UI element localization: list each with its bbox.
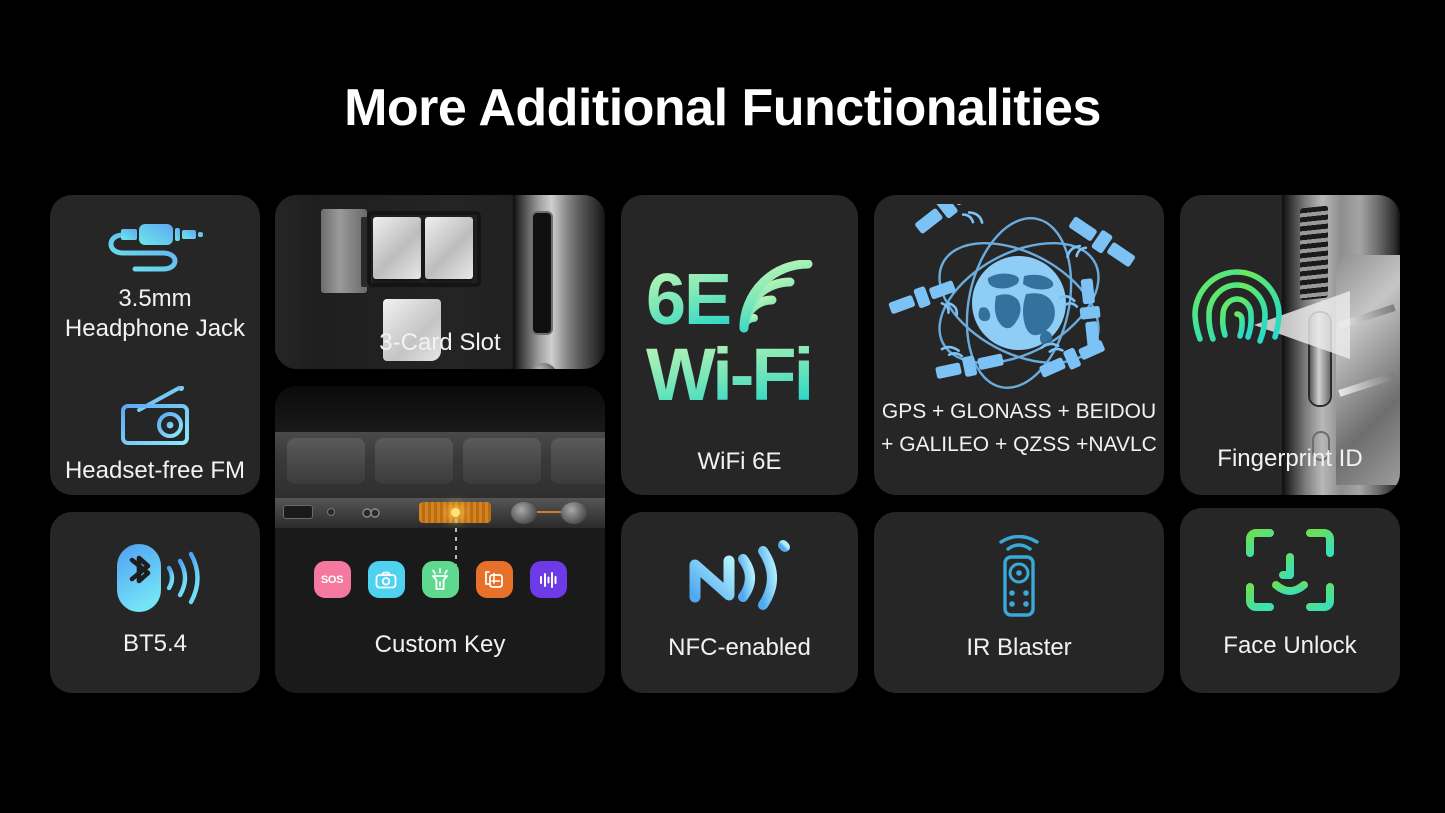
radio-icon xyxy=(50,385,260,447)
face-unlock-label: Face Unlock xyxy=(1180,632,1400,661)
camera-app-icon[interactable] xyxy=(368,561,405,598)
fingerprint-label: Fingerprint ID xyxy=(1180,445,1400,474)
custom-key-app-icons: SOS xyxy=(275,561,605,598)
gnss-label-line2: + GALILEO + QZSS +NAVLC xyxy=(874,432,1164,457)
ir-blaster-label: IR Blaster xyxy=(874,634,1164,663)
bluetooth-icon xyxy=(50,540,260,616)
wifi-6e-logo: 6E Wi-Fi xyxy=(621,255,858,415)
svg-text:Wi-Fi: Wi-Fi xyxy=(646,333,811,410)
nfc-icon xyxy=(621,538,858,618)
remote-control-icon xyxy=(874,534,1164,620)
card-nfc[interactable]: NFC-enabled xyxy=(621,512,858,693)
nfc-label: NFC-enabled xyxy=(621,634,858,663)
sos-app-icon[interactable]: SOS xyxy=(314,561,351,598)
card-fingerprint[interactable]: Fingerprint ID xyxy=(1180,195,1400,495)
headphone-jack-label-line2: Headphone Jack xyxy=(50,315,260,344)
face-id-icon xyxy=(1180,524,1400,616)
satellite-globe-icon xyxy=(874,203,1164,403)
svg-text:6E: 6E xyxy=(646,260,730,340)
fingerprint-icon xyxy=(1192,269,1282,366)
card-wifi-6e[interactable]: 6E Wi-Fi WiFi 6E xyxy=(621,195,858,495)
card-ir-blaster[interactable]: IR Blaster xyxy=(874,512,1164,693)
headphone-jack-icon xyxy=(50,217,260,279)
card-gnss[interactable]: GPS + GLONASS + BEIDOU + GALILEO + QZSS … xyxy=(874,195,1164,495)
bluetooth-label: BT5.4 xyxy=(50,630,260,659)
recorder-app-icon[interactable] xyxy=(530,561,567,598)
infographic-page: More Additional Functionalities 3.5mm He… xyxy=(0,0,1445,813)
gnss-label-line1: GPS + GLONASS + BEIDOU xyxy=(874,399,1164,424)
wifi-6e-label: WiFi 6E xyxy=(621,448,858,477)
custom-key-label: Custom Key xyxy=(275,631,605,660)
card-slot-label: 3-Card Slot xyxy=(275,329,605,358)
card-headphone-fm[interactable]: 3.5mm Headphone Jack xyxy=(50,195,260,495)
headphone-jack-label-line1: 3.5mm xyxy=(50,285,260,314)
screenshot-app-icon[interactable] xyxy=(476,561,513,598)
flashlight-app-icon[interactable] xyxy=(422,561,459,598)
card-bluetooth[interactable]: BT5.4 xyxy=(50,512,260,693)
page-title: More Additional Functionalities xyxy=(0,78,1445,138)
card-face-unlock[interactable]: Face Unlock xyxy=(1180,508,1400,693)
card-custom-key[interactable]: SOS xyxy=(275,386,605,693)
card-3-card-slot[interactable]: 3-Card Slot xyxy=(275,195,605,369)
sos-app-label: SOS xyxy=(321,574,343,586)
fm-radio-label: Headset-free FM xyxy=(50,457,260,486)
